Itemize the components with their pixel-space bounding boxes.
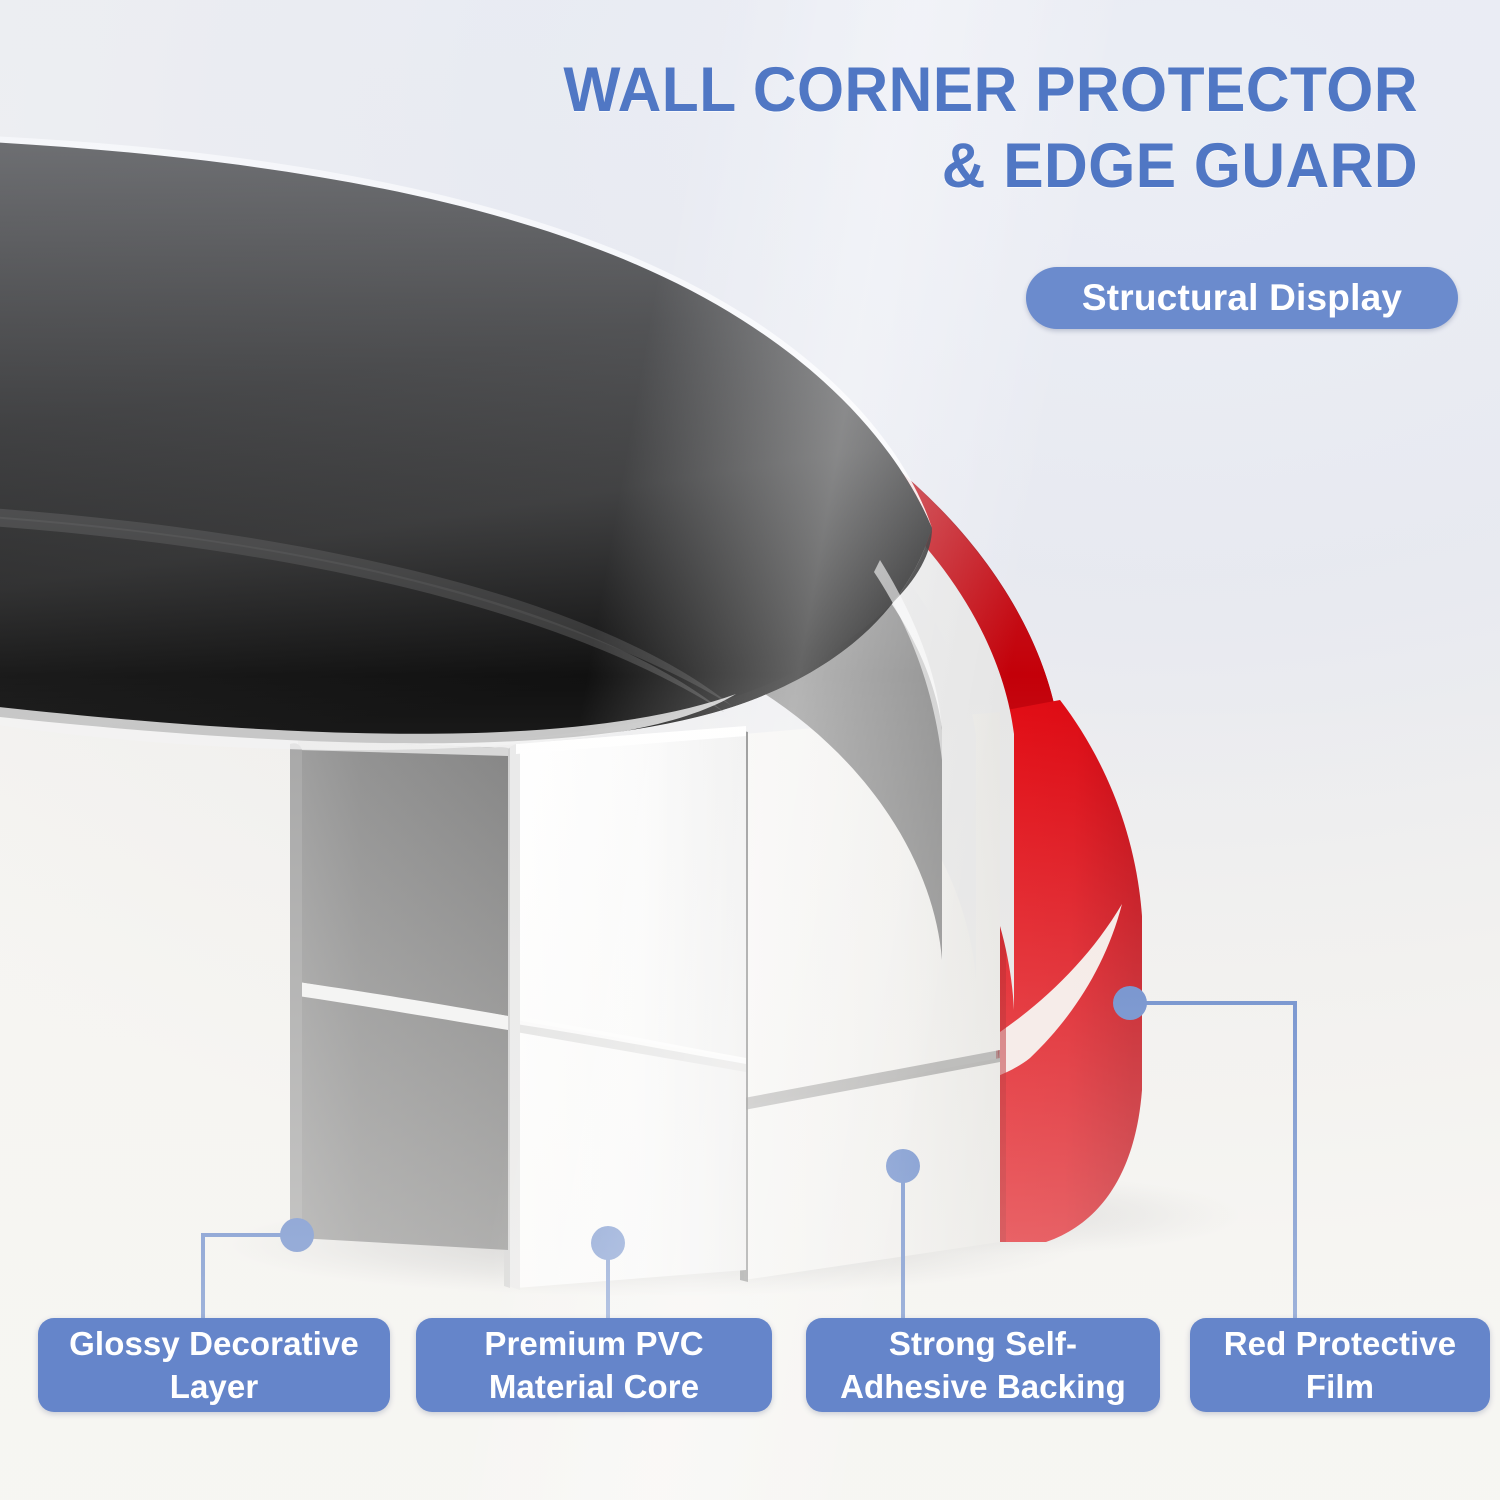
callout-dot-pvc (591, 1226, 625, 1260)
callout-dot-red-film (1113, 986, 1147, 1020)
callout-label-strong-self-adhesive-backing: Strong Self-Adhesive Backing (806, 1318, 1160, 1412)
callout-label-red-protective-film: Red Protective Film (1190, 1318, 1490, 1412)
callout-dot-adhesive (886, 1149, 920, 1183)
callout-dot-glossy (280, 1218, 314, 1252)
infographic-canvas: WALL CORNER PROTECTOR & EDGE GUARD Struc… (0, 0, 1500, 1500)
leader-line-red-film (1130, 1003, 1295, 1320)
callout-label-premium-pvc-material-core: Premium PVC Material Core (416, 1318, 772, 1412)
callout-label-glossy-decorative-layer: Glossy Decorative Layer (38, 1318, 390, 1412)
structural-display-badge: Structural Display (1026, 267, 1458, 329)
product-illustration (0, 0, 1500, 1500)
